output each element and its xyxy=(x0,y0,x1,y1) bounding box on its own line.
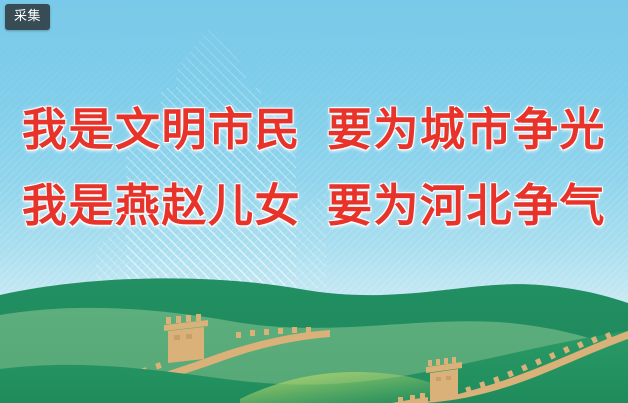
slogan-line-2: 我是燕赵儿女要为河北争气 xyxy=(0,168,628,244)
slogan-line-2-right: 要为河北争气 xyxy=(327,179,606,232)
capture-button[interactable]: 采集 xyxy=(5,4,50,30)
slogan-line-1: 我是文明市民要为城市争光 xyxy=(0,92,628,168)
slogan-line-1-right: 要为城市争光 xyxy=(327,103,606,156)
slogan-line-1-left: 我是文明市民 xyxy=(22,103,301,156)
slogan-line-2-left: 我是燕赵儿女 xyxy=(22,179,301,232)
poster-image: 我是文明市民要为城市争光 我是燕赵儿女要为河北争气 xyxy=(0,0,628,403)
slogan-block: 我是文明市民要为城市争光 我是燕赵儿女要为河北争气 xyxy=(0,92,628,244)
hills-illustration xyxy=(0,273,628,403)
